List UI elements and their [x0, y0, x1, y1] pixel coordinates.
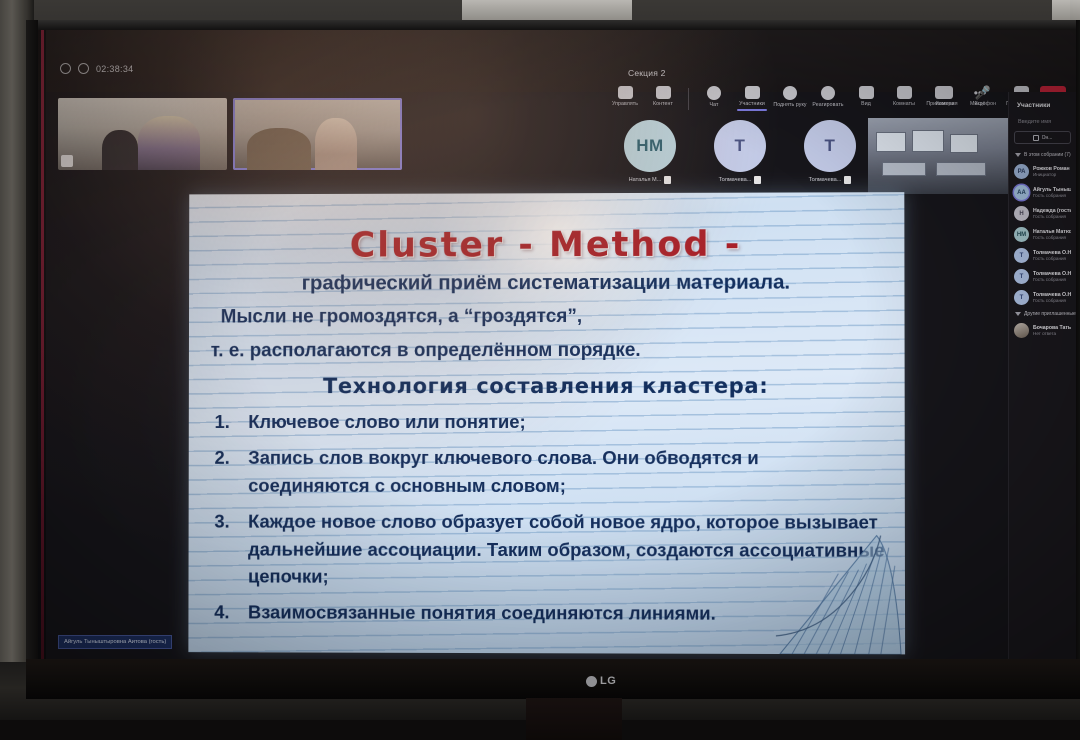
participant-row[interactable]: РА Рожков Роман Ал... Инициатор [1014, 164, 1071, 179]
reaction-icon [821, 86, 835, 100]
microphone-icon: 🎤 [976, 86, 991, 99]
toolbar-label: Вид [861, 101, 871, 107]
avatar: Т [1014, 290, 1029, 305]
toolbar-label: Реагировать [812, 102, 843, 108]
participant-role: Гость собрания [1033, 214, 1071, 219]
participant-row[interactable]: Т Толмачева О.Н. (го... Гость собрания [1014, 269, 1071, 284]
camera-icon [938, 86, 953, 99]
avatar-name-row: Толмачева... [809, 176, 852, 184]
toolbar-label: Микрофон [970, 101, 996, 107]
toolbar-button-raise-hand[interactable]: Поднять руку [771, 86, 809, 108]
panel-title: Участники [1017, 102, 1071, 109]
microphone-muted-icon [664, 176, 671, 184]
participant-role: Гость собрания [1033, 256, 1071, 261]
toolbar-label: Контент [653, 101, 673, 107]
toolbar-button-react[interactable]: Реагировать [809, 86, 847, 108]
video-tiles-row [58, 98, 402, 170]
chevron-down-icon [1015, 153, 1021, 157]
participant-row[interactable]: Н Надежда (гость) Гость собрания [1014, 206, 1071, 221]
avatar-name: Наталья М... [629, 177, 662, 183]
slide-list-item: 3. Каждое новое слово образует собой нов… [206, 508, 886, 591]
slide-line: Мысли не громоздятся, а “гроздятся”, [221, 306, 887, 329]
participant-role: Гость собрания [1033, 298, 1071, 303]
toolbar-button-rooms[interactable]: Комнаты [885, 86, 923, 107]
record-icon[interactable] [60, 63, 71, 74]
desk-shape [882, 162, 926, 176]
slide-list-item: 2. Запись слов вокруг ключевого слова. О… [207, 444, 887, 499]
chevron-down-icon [1015, 312, 1021, 316]
rooms-icon [897, 86, 912, 99]
participant-role: Гость собрания [1033, 193, 1071, 198]
participant-silhouette [102, 130, 138, 170]
list-number: 4. [206, 599, 248, 626]
participant-group-header[interactable]: Другие приглашенные (1) [1015, 311, 1071, 317]
toolbar-button-content[interactable]: Контент [644, 86, 682, 107]
monitor-bezel-right [1076, 20, 1080, 665]
meeting-timer: 02:38:34 [96, 64, 133, 74]
participant-row[interactable]: АА Айгуль Тыныштыр... Гость собрания [1014, 185, 1071, 200]
toolbar-button-view[interactable]: Вид [847, 86, 885, 107]
toolbar-button-participants[interactable]: Участники [733, 86, 771, 107]
presenter-name-tag: Айгуль Тыныштыровна Аитова (гость) [58, 635, 172, 649]
participant-role: Гость собрания [1033, 235, 1071, 240]
participant-search-input[interactable]: Введите имя [1018, 119, 1071, 125]
avatar-name-row: Толмачева... [719, 176, 762, 184]
participant-silhouette [315, 118, 357, 170]
lg-brand-logo: LG [586, 675, 616, 687]
avatar: АА [1014, 185, 1029, 200]
layout-icon [859, 86, 874, 99]
video-tile[interactable] [58, 98, 227, 170]
participant-text: Рожков Роман Ал... Инициатор [1033, 166, 1071, 177]
list-text: Взаимосвязанные понятия соединяются лини… [248, 599, 887, 628]
desk-shape [936, 162, 986, 176]
video-conference-app: 02:38:34 Секция 2 Управлять Контент Чат [46, 30, 1076, 659]
microphone-muted-icon [844, 176, 851, 184]
list-text: Запись слов вокруг ключевого слова. Они … [248, 444, 887, 499]
participant-role: Инициатор [1033, 172, 1071, 177]
avatar: РА [1014, 164, 1029, 179]
section-title: Секция 2 [628, 68, 666, 78]
invite-icon [1033, 135, 1039, 141]
participant-group-header[interactable]: В этом собрании (7) [1015, 152, 1071, 158]
participant-text: Толмачева О.Н. (го... Гость собрания [1033, 271, 1071, 282]
avatar: НМ [624, 120, 676, 172]
monitor-shape [876, 132, 906, 152]
participant-text: Толмачева О.Н. (го... Гость собрания [1033, 250, 1071, 261]
monitor-screen: 02:38:34 Секция 2 Управлять Контент Чат [38, 30, 1076, 659]
slide-content: Cluster - Method - графический приём сис… [188, 192, 905, 628]
avatar-name-row: Наталья М... [629, 176, 672, 184]
avatar: Т [1014, 248, 1029, 263]
toolbar-label: Поднять руку [773, 102, 806, 108]
slide-title: Cluster - Method - [207, 224, 886, 266]
monitor-stand-neck [526, 698, 622, 740]
microphone-muted-icon [754, 176, 761, 184]
participants-panel: Участники Введите имя Он... В этом собра… [1008, 92, 1076, 659]
slide-subtitle: графический приём систематизации материа… [207, 270, 886, 295]
slide-list-item: 1. Ключевое слово или понятие; [207, 408, 887, 436]
audio-only-participants: НМ Наталья М... Т Толмачева... Т [624, 120, 856, 184]
participant-row[interactable]: Т Толмачева О.Н. (го... Гость собрания [1014, 290, 1071, 305]
slide-section-heading: Технология составления кластера: [207, 374, 887, 398]
participant-silhouette [138, 116, 200, 170]
participant-row[interactable]: Бочарова Татья... Нет ответа [1014, 323, 1071, 338]
avatar-participant[interactable]: НМ Наталья М... [624, 120, 676, 184]
participant-role: Гость собрания [1033, 277, 1071, 282]
toolbar-button-microphone[interactable]: 🎤 Микрофон [964, 86, 1002, 107]
content-icon [656, 86, 671, 99]
list-text: Ключевое слово или понятие; [248, 408, 886, 436]
send-invitation-label: Он... [1042, 135, 1053, 141]
video-tile-room-camera[interactable] [868, 118, 1008, 194]
participant-text: Наталья Матюх... Гость собрания [1033, 229, 1071, 240]
list-number: 1. [207, 408, 249, 435]
avatar: Т [1014, 269, 1029, 284]
slide-line: т. е. располагаются в определённом поряд… [211, 340, 887, 363]
participant-silhouette [247, 128, 311, 170]
shared-presentation-slide[interactable]: Cluster - Method - графический приём сис… [188, 192, 905, 654]
panel-icon [618, 86, 633, 99]
active-tab-indicator [737, 109, 767, 111]
toolbar-label: Комнаты [893, 101, 915, 107]
toolbar-label: Участники [739, 101, 765, 107]
app-top-bar [46, 30, 1076, 92]
avatar: Н [1014, 206, 1029, 221]
lg-circle-icon [586, 676, 597, 687]
chat-icon [707, 86, 721, 100]
avatar-participant[interactable]: Т Толмачева... [804, 120, 856, 184]
participant-text: Надежда (гость) Гость собрания [1033, 208, 1071, 219]
participants-icon [745, 86, 760, 99]
microphone-muted-icon [61, 155, 73, 167]
avatar: НМ [1014, 227, 1029, 242]
toolbar-label: Чат [710, 102, 719, 108]
avatar [1014, 323, 1029, 338]
raise-hand-icon [783, 86, 797, 100]
monitor-shape [912, 130, 944, 152]
slide-list-item: 4. Взаимосвязанные понятия соединяются л… [206, 599, 887, 628]
lg-brand-text: LG [600, 675, 616, 687]
pause-icon[interactable] [78, 63, 89, 74]
participant-text: Бочарова Татья... Нет ответа [1033, 325, 1071, 336]
toolbar-button-camera[interactable]: Камера [926, 86, 964, 107]
group-label: Другие приглашенные (1) [1024, 311, 1076, 317]
recording-indicator-group[interactable]: 02:38:34 [60, 63, 133, 74]
monitor-bezel-bottom [26, 659, 1080, 699]
monitor-bezel-top [26, 20, 1080, 30]
toolbar-button-manage[interactable]: Управлять [606, 86, 644, 107]
video-tile[interactable] [233, 98, 402, 170]
avatar-name: Толмачева... [809, 177, 842, 183]
monitor-shape [950, 134, 978, 153]
toolbar-button-chat[interactable]: Чат [695, 86, 733, 108]
participant-row[interactable]: НМ Наталья Матюх... Гость собрания [1014, 227, 1071, 242]
lg-monitor: LG 02:38:34 Секция 2 Управлять [26, 20, 1080, 672]
send-invitation-button[interactable]: Он... [1014, 131, 1071, 144]
avatar-name: Толмачева... [719, 177, 752, 183]
participant-text: Айгуль Тыныштыр... Гость собрания [1033, 187, 1071, 198]
monitor-bezel-left [26, 20, 38, 665]
toolbar-divider [688, 88, 689, 110]
screen-edge-glow [41, 30, 44, 659]
avatar-participant[interactable]: Т Толмачева... [714, 120, 766, 184]
toolbar-label: Управлять [612, 101, 638, 107]
participant-row[interactable]: Т Толмачева О.Н. (го... Гость собрания [1014, 248, 1071, 263]
participant-role: Нет ответа [1033, 331, 1071, 336]
list-number: 2. [207, 444, 249, 499]
toolbar-label: Камера [936, 101, 955, 107]
participant-text: Толмачева О.Н. (го... Гость собрания [1033, 292, 1071, 303]
list-text: Каждое новое слово образует собой новое … [248, 508, 887, 591]
list-number: 3. [206, 508, 248, 590]
avatar: Т [804, 120, 856, 172]
avatar: Т [714, 120, 766, 172]
group-label: В этом собрании (7) [1024, 152, 1071, 158]
